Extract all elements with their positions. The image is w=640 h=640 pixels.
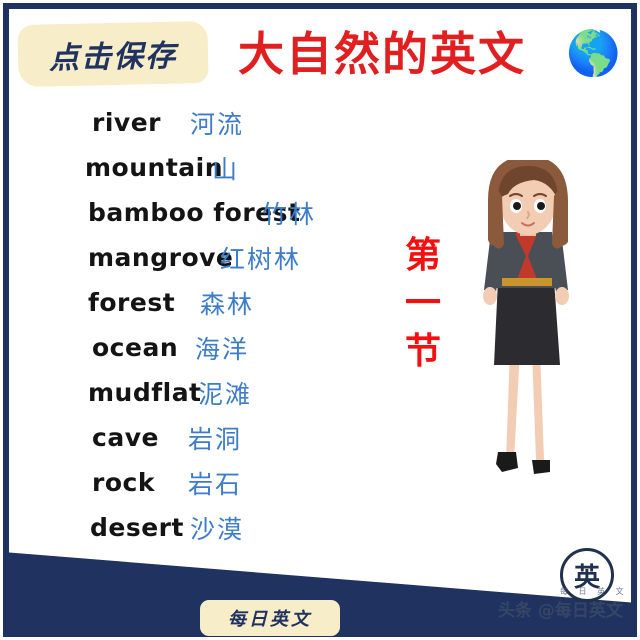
word-chinese: 竹林: [262, 195, 316, 231]
list-item: bamboo forest 竹林: [0, 190, 400, 235]
word-chinese: 沙漠: [190, 510, 244, 546]
list-item: mangrove 红树林: [0, 235, 400, 280]
list-item: rock 岩石: [0, 460, 400, 505]
page-title: 大自然的英文: [232, 24, 532, 84]
word-chinese: 红树林: [220, 240, 301, 276]
list-item: river 河流: [0, 100, 400, 145]
list-item: forest 森林: [0, 280, 400, 325]
word-chinese: 岩石: [188, 465, 242, 501]
word-chinese: 森林: [200, 285, 254, 321]
word-chinese: 山: [212, 150, 239, 186]
word-english: mudflat: [88, 378, 202, 407]
word-english: mangrove: [88, 243, 233, 272]
save-badge-label: 点击保存: [17, 21, 208, 87]
word-english: river: [92, 108, 161, 137]
list-item: ocean 海洋: [0, 325, 400, 370]
word-english: cave: [92, 423, 159, 452]
list-item: cave 岩洞: [0, 415, 400, 460]
watermark-text: 头条 @每日英文: [498, 596, 623, 621]
word-chinese: 岩洞: [188, 420, 242, 456]
list-item: desert 沙漠: [0, 505, 400, 550]
word-english: desert: [90, 513, 184, 542]
word-chinese: 泥滩: [198, 375, 252, 411]
businesswoman-illustration: [440, 160, 620, 510]
daily-english-badge[interactable]: 每日英文: [200, 600, 340, 636]
list-item: mudflat 泥滩: [0, 370, 400, 415]
daily-english-badge-label: 每日英文: [200, 600, 340, 636]
vocabulary-list: river 河流 mountain 山 bamboo forest 竹林 man…: [0, 100, 400, 550]
word-english: forest: [88, 288, 175, 317]
poster-page: 点击保存 大自然的英文 🌎 river 河流 mountain 山 bamboo…: [0, 0, 640, 640]
word-english: rock: [92, 468, 155, 497]
word-english: mountain: [85, 153, 223, 182]
word-chinese: 河流: [190, 105, 244, 141]
list-item: mountain 山: [0, 145, 400, 190]
word-chinese: 海洋: [195, 330, 249, 366]
globe-americas-icon: 🌎: [566, 28, 618, 80]
word-english: ocean: [92, 333, 178, 362]
businesswoman-figure: [440, 160, 620, 510]
save-badge[interactable]: 点击保存: [17, 21, 208, 87]
